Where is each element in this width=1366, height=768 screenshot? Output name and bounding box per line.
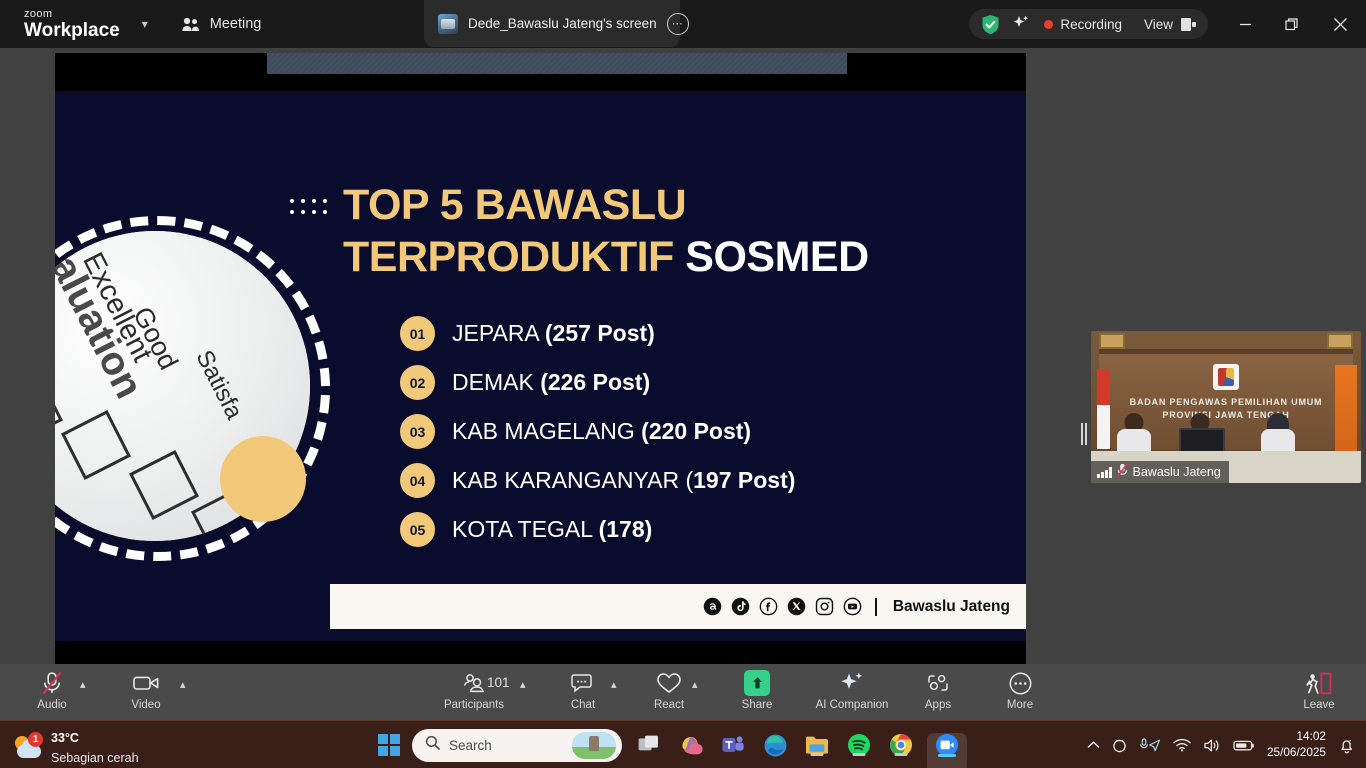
file-explorer-icon[interactable] bbox=[802, 730, 832, 760]
indonesia-flag bbox=[1097, 369, 1110, 449]
shared-screen-tab-label: Dede_Bawaslu Jateng's screen bbox=[468, 16, 657, 31]
participant-name-bar: Bawaslu Jateng bbox=[1091, 461, 1229, 483]
toolbar-chat-label: Chat bbox=[571, 699, 595, 711]
youtube-icon bbox=[843, 597, 862, 616]
recording-label[interactable]: Recording bbox=[1060, 17, 1122, 32]
participants-icon bbox=[461, 670, 487, 696]
toolbar-video-button[interactable]: Video bbox=[122, 670, 170, 716]
shared-screen-tab[interactable]: Dede_Bawaslu Jateng's screen ⋯ bbox=[424, 0, 680, 47]
rank-text: KAB MAGELANG (220 Post) bbox=[452, 418, 751, 445]
minimize-icon[interactable] bbox=[1222, 0, 1268, 48]
shared-screen-stage: Evaluation Excellent Good Satisfa bbox=[0, 48, 1366, 664]
video-camera-icon bbox=[133, 670, 159, 696]
spotify-icon[interactable] bbox=[844, 730, 874, 760]
wall-frame-left bbox=[1099, 333, 1125, 349]
sparkle-icon bbox=[839, 670, 865, 696]
shield-check-icon[interactable] bbox=[981, 14, 1000, 35]
slide-footer-band: Bawaslu Jateng bbox=[330, 584, 1026, 629]
video-options-caret-icon[interactable]: ▴ bbox=[180, 678, 186, 691]
circle-icon[interactable] bbox=[1112, 738, 1127, 753]
list-item: 04 KAB KARANGANYAR (197 Post) bbox=[400, 456, 980, 505]
list-item: 01 JEPARA (257 Post) bbox=[400, 309, 980, 358]
apps-icon bbox=[926, 670, 950, 696]
bawaslu-logo-icon bbox=[1213, 364, 1239, 390]
zoom-meeting-toolbar: Audio ▴ Video ▴ Participants 101 ▴ Chat … bbox=[0, 664, 1366, 720]
screen-root: zoom Workplace ▾ Meeting Dede_Bawaslu Ja… bbox=[0, 0, 1366, 768]
instagram-icon bbox=[815, 597, 834, 616]
layout-icon[interactable] bbox=[1181, 18, 1196, 31]
microsoft-edge-icon[interactable] bbox=[760, 730, 790, 760]
toolbar-react-button[interactable]: React bbox=[644, 670, 694, 716]
rank-badge: 02 bbox=[400, 365, 435, 400]
heart-icon bbox=[656, 670, 682, 696]
tiktok-icon bbox=[731, 597, 750, 616]
toolbar-ai-companion-label: AI Companion bbox=[816, 699, 889, 711]
mic-muted-icon bbox=[41, 670, 63, 696]
toolbar-audio-button[interactable]: Audio bbox=[28, 670, 76, 716]
meeting-tab-label: Meeting bbox=[210, 16, 262, 32]
signal-bars-icon bbox=[1097, 467, 1112, 478]
chevron-up-icon[interactable] bbox=[1087, 740, 1100, 750]
wall-frame-right bbox=[1327, 333, 1353, 349]
toolbar-more-label: More bbox=[1007, 699, 1033, 711]
toolbar-apps-button[interactable]: Apps bbox=[912, 670, 964, 716]
notification-badge: 1 bbox=[28, 732, 43, 747]
participants-options-caret-icon[interactable]: ▴ bbox=[520, 678, 526, 691]
slide-title-line2-white: SOSMED bbox=[685, 233, 868, 281]
mic-location-icon[interactable] bbox=[1139, 738, 1161, 753]
windows-taskbar: 1 33°C Sebagian cerah Search bbox=[0, 720, 1366, 768]
view-label[interactable]: View bbox=[1144, 17, 1173, 32]
more-options-icon[interactable]: ⋯ bbox=[667, 13, 689, 35]
system-tray: 14:02 25/06/2025 z bbox=[1087, 721, 1356, 768]
clock-time: 14:02 bbox=[1296, 729, 1326, 743]
toolbar-apps-label: Apps bbox=[925, 699, 951, 711]
rank-badge: 03 bbox=[400, 414, 435, 449]
zoom-workplace-logo: zoom Workplace bbox=[24, 9, 120, 40]
titlebar-right-group: Recording View bbox=[969, 0, 1366, 48]
google-chrome-icon[interactable] bbox=[886, 730, 916, 760]
toolbar-audio-label: Audio bbox=[37, 699, 66, 711]
dot-grid-decoration bbox=[290, 199, 334, 221]
search-input[interactable]: Search bbox=[412, 729, 622, 762]
daily-image-thumb[interactable] bbox=[572, 732, 616, 759]
restore-icon[interactable] bbox=[1268, 0, 1314, 48]
rank-badge: 04 bbox=[400, 463, 435, 498]
chat-options-caret-icon[interactable]: ▴ bbox=[611, 678, 617, 691]
screen-thumbnail-icon bbox=[438, 14, 458, 34]
toolbar-leave-label: Leave bbox=[1303, 699, 1334, 711]
presentation-slide: Evaluation Excellent Good Satisfa bbox=[55, 91, 1026, 641]
rank-text: KAB KARANGANYAR (197 Post) bbox=[452, 467, 795, 494]
backdrop-line1: BADAN PENGAWAS PEMILIHAN UMUM bbox=[1091, 397, 1361, 407]
list-item: 02 DEMAK (226 Post) bbox=[400, 358, 980, 407]
list-item: 05 KOTA TEGAL (178) bbox=[400, 505, 980, 554]
shared-app-toolbar-strip bbox=[267, 53, 847, 74]
mic-muted-icon bbox=[1117, 463, 1128, 482]
orange-banner bbox=[1335, 365, 1357, 451]
notification-bell-dnd-icon[interactable]: z bbox=[1338, 737, 1356, 754]
toolbar-video-label: Video bbox=[131, 699, 160, 711]
shared-screen-frame: Evaluation Excellent Good Satisfa bbox=[55, 53, 1026, 664]
search-placeholder: Search bbox=[449, 738, 492, 753]
taskbar-clock[interactable]: 14:02 25/06/2025 bbox=[1267, 729, 1326, 761]
leave-door-icon bbox=[1306, 670, 1332, 696]
rank-text: KOTA TEGAL (178) bbox=[452, 516, 652, 543]
volume-icon[interactable] bbox=[1203, 738, 1221, 753]
weather-temperature: 33°C bbox=[51, 731, 79, 745]
x-twitter-icon bbox=[787, 597, 806, 616]
weather-description: Sebagian cerah bbox=[51, 751, 139, 765]
microsoft-teams-icon[interactable] bbox=[718, 730, 748, 760]
participants-count: 101 bbox=[487, 675, 510, 690]
slide-title: TOP 5 BAWASLU TERPRODUKTIF SOSMED bbox=[343, 179, 963, 284]
chevron-down-icon[interactable]: ▾ bbox=[142, 17, 148, 31]
person-figure bbox=[1261, 413, 1295, 455]
close-icon[interactable] bbox=[1314, 0, 1366, 48]
toolbar-leave-button[interactable]: Leave bbox=[1292, 670, 1346, 716]
battery-icon[interactable] bbox=[1233, 739, 1255, 752]
ranking-list: 01 JEPARA (257 Post) 02 DEMAK (226 Post)… bbox=[400, 309, 980, 554]
weather-widget[interactable]: 1 33°C Sebagian cerah bbox=[14, 728, 139, 768]
footer-divider bbox=[875, 598, 877, 616]
zoom-title-bar: zoom Workplace ▾ Meeting Dede_Bawaslu Ja… bbox=[0, 0, 1366, 48]
taskbar-center-group: Search bbox=[378, 721, 962, 768]
person-figure bbox=[1117, 413, 1151, 455]
people-icon bbox=[182, 17, 201, 32]
footer-brand-name: Bawaslu Jateng bbox=[893, 598, 1010, 616]
search-icon bbox=[425, 735, 440, 755]
toolbar-share-label: Share bbox=[742, 699, 773, 711]
audio-options-caret-icon[interactable]: ▴ bbox=[80, 678, 86, 691]
toolbar-ai-companion-button[interactable]: AI Companion bbox=[806, 670, 898, 716]
rank-badge: 05 bbox=[400, 512, 435, 547]
toolbar-chat-button[interactable]: Chat bbox=[560, 670, 606, 716]
gold-circle-decoration bbox=[220, 436, 306, 522]
rank-badge: 01 bbox=[400, 316, 435, 351]
zoom-icon[interactable] bbox=[932, 730, 962, 760]
slide-title-line2-gold: TERPRODUKTIF bbox=[343, 233, 674, 281]
svg-text:z: z bbox=[1348, 739, 1351, 745]
meeting-status-pill: Recording View bbox=[969, 9, 1208, 39]
meeting-tab[interactable]: Meeting bbox=[182, 16, 262, 32]
wifi-icon[interactable] bbox=[1173, 738, 1191, 752]
list-item: 03 KAB MAGELANG (220 Post) bbox=[400, 407, 980, 456]
share-screen-icon bbox=[744, 670, 770, 696]
toolbar-more-button[interactable]: More bbox=[992, 670, 1048, 716]
sun-cloud-icon: 1 bbox=[14, 735, 42, 761]
zoom-brand-big: Workplace bbox=[24, 21, 120, 40]
chat-bubble-icon bbox=[571, 670, 595, 696]
drag-handle-icon[interactable] bbox=[1081, 423, 1087, 445]
participant-name: Bawaslu Jateng bbox=[1133, 465, 1221, 479]
clock-date: 25/06/2025 bbox=[1267, 745, 1326, 759]
more-dots-icon bbox=[1009, 670, 1032, 696]
recording-indicator-dot bbox=[1044, 20, 1053, 29]
threads-icon bbox=[703, 597, 722, 616]
slide-title-line1: TOP 5 BAWASLU bbox=[343, 181, 686, 229]
windows-start-icon[interactable] bbox=[378, 734, 400, 756]
task-view-icon[interactable] bbox=[634, 730, 664, 760]
toolbar-react-label: React bbox=[654, 699, 684, 711]
zoom-brand-small: zoom bbox=[24, 9, 120, 20]
copilot-icon[interactable] bbox=[676, 730, 706, 760]
toolbar-share-button[interactable]: Share bbox=[732, 670, 782, 716]
participant-video-thumbnail[interactable]: BADAN PENGAWAS PEMILIHAN UMUM PROVINSI J… bbox=[1091, 331, 1361, 483]
rank-text: DEMAK (226 Post) bbox=[452, 369, 650, 396]
facebook-icon bbox=[759, 597, 778, 616]
toolbar-participants-label: Participants bbox=[444, 699, 504, 711]
react-options-caret-icon[interactable]: ▴ bbox=[692, 678, 698, 691]
sparkle-icon[interactable] bbox=[1012, 14, 1030, 35]
rank-text: JEPARA (257 Post) bbox=[452, 320, 655, 347]
